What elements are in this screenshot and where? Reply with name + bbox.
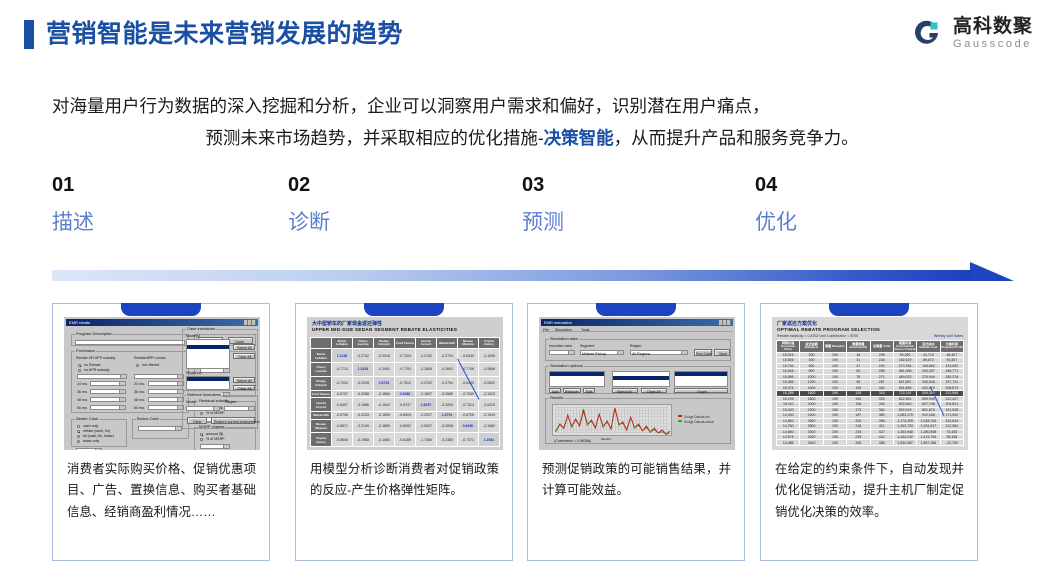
table-cell: -0.6340 [458,349,479,363]
row-header: Dodge Intrepid [311,376,332,390]
table-cell: 14,485 [777,440,800,446]
row-header: Honda Accord [311,398,332,412]
regions-clear-all-button[interactable]: Clear All [233,385,255,390]
label-segment: Segment [580,344,594,348]
optimal-rebate-shot: 厂家返还方案优化 OPTIMAL REBATE PROGRAM SELECTIO… [772,317,968,450]
menubar[interactable]: File Simulation Tools [541,327,733,332]
column-header: Buick LeSabre [332,338,353,349]
table-cell: -2.2037 [416,411,437,419]
step-number: 02 [288,175,508,195]
radio-all-cash-fin-lease[interactable] [77,435,80,438]
table-row: Nissan Maxima-0.6571-0.2149-0.1869-0.605… [311,419,500,433]
group-title: Simulation data [549,336,579,341]
card-screenshot-program-description: EMR rebate Program Description Purchases… [64,317,260,450]
regions-select-all-button[interactable]: Select All [233,377,255,383]
clear-all-label: Clear All [238,387,251,391]
select-all-label: Select All [237,379,252,383]
radio-cash-only[interactable] [77,425,80,428]
chart-series-svg [553,405,673,437]
models-selected-row [613,376,669,380]
optimal-rebate-table: 转移价格 Customer Price返还金额 Rebate $销量 Basel… [776,340,964,446]
table-cell: 458 [870,440,893,446]
column-header: 增量利润 Incremental Gross Contrib [893,341,916,353]
row-header: Nissan Maxima [311,419,332,433]
group-bonus-cash: Bonus Cash [132,419,189,439]
column-header: Chevy Lumina [353,338,374,349]
legend-swatch-actual [678,420,682,422]
label-models: Model(s) [186,334,200,338]
column-header: 方案利润 Program Profit [940,341,963,353]
step-04: 04 优化 [755,175,975,233]
card-screenshot-simulation: EMR simulation File Simulation Tools Sim… [539,317,735,450]
table-cell: -0.2794 [437,349,458,363]
table-cell: -22,789 [940,440,963,446]
program-description-input[interactable] [75,340,185,345]
card-caption: 消费者实际购买价格、促销优惠项目、广告、置换信息、购买者基础信息、经销商盈利情况… [67,459,256,523]
incentive-case-combo[interactable] [549,350,575,355]
chart-xlabel: Months [601,437,611,441]
table-cell: -2.1697 [416,390,437,398]
logo-cn-text: 高科数聚 [953,17,1033,36]
table-cell: -0.2742 [353,349,374,363]
table-row: 14,48534001902654581,534,4871,557,286-22… [777,440,964,446]
table-cell: -2.1096 [479,349,500,363]
label-24mo-right: 24 mo. [134,382,145,386]
table-cell: -0.1642 [374,398,395,412]
clear-label: Clear [193,420,202,424]
group-case-incentives: Case incentives Model(s) Select All Clea… [182,329,258,391]
table-cell: -2.1982 [479,419,500,433]
process-arrow-bar [52,270,976,281]
intro-paragraph: 对海量用户行为数据的深入挖掘和分析，企业可以洞察用户需求和偏好，识别潜在用户痛点… [52,90,1012,155]
card-caption: 在给定的约束条件下，自动发现并优化促销活动，提升主机厂制定促销优化决策的效率。 [775,459,964,523]
edit-button[interactable]: Edit [583,388,595,393]
table-cell: -0.6706 [458,411,479,419]
simulation-titlebar: EMR simulation [541,319,733,326]
row-header: Mazda 626 [311,411,332,419]
combo-60mo-right[interactable] [148,405,184,410]
label-48mo-right: 48 mo. [134,398,145,402]
combo-24mo-right[interactable] [148,381,184,386]
table-cell: 1.6791 [437,411,458,419]
row-header: Toyota Camry [311,433,332,447]
row-header: Chevy Lumina [311,363,332,377]
segment-value: Midsize Pickup [582,352,606,356]
table-cell: -0.1660 [374,433,395,447]
process-arrow-head [970,262,1014,281]
logo-en-text: Gausscode [953,39,1033,50]
label-region: Region [225,400,236,404]
cases-selected-row [550,372,604,376]
column-header: Honda Accord [416,338,437,349]
group-title: Dealer Cash [75,416,99,421]
column-header: 返还成本 Rebate Cost [917,341,940,353]
table-right-note: Weekly Unit Sales [934,334,963,338]
region-value: All Regions [632,352,650,356]
card-caption: 预测促销政策的可能销售结果，并计算可能效益。 [542,459,731,502]
table-cell: 1.2561 [479,433,500,447]
step-label: 诊断 [288,212,508,233]
table-cell: -0.7204 [395,349,416,363]
table-cell: -0.7314 [458,398,479,412]
card-tab [596,303,676,316]
group-title: Results [549,395,564,400]
paragraph-line-1: 对海量用户行为数据的深入挖掘和分析，企业可以洞察用户需求和偏好，识别潜在用户痛点… [52,90,1012,122]
combo-48mo-right[interactable] [148,397,184,402]
label-60mo-right: 60 mo. [134,406,145,410]
restore-label: Restore current environment [214,420,260,424]
label-36mo-left: 36 mo. [77,390,88,394]
table-cell: -0.2028 [353,376,374,390]
gausscode-logo-icon [910,16,944,50]
paragraph-line-2: 预测未来市场趋势，并采取相应的优化措施-决策智能，从而提升产品和服务竞争力。 [52,122,1012,154]
outputs-selected-row [675,372,727,376]
run-case-label: Run Case [696,352,712,356]
radio-no-apr-subsidy[interactable] [78,369,81,372]
table-cell: -2.2192 [416,349,437,363]
combo-48mo-left[interactable] [90,397,126,402]
column-header: 返还金额 Rebate $ [800,341,823,353]
outputs-listbox[interactable] [674,371,728,387]
brand-logo: 高科数聚 Gausscode [910,16,1033,50]
graph-label: Graph [697,390,707,394]
group-title: Case incentives [186,326,216,331]
menu-tools[interactable]: Tools [581,328,589,332]
table-cell: -0.1991 [374,363,395,377]
table-title-cn: 厂家返还方案优化 [777,320,817,327]
clear-button[interactable]: Clear [187,417,207,424]
save-button[interactable]: Save [714,349,730,356]
card-tab [121,303,201,316]
label-not-offered: not offered [142,363,159,367]
label-lease-only: lease only [83,439,99,443]
case-incentives-panel: Case incentives Model(s) Select All Clea… [182,329,258,449]
table-cell: -2.0602 [479,376,500,390]
table-cell: -0.1869 [374,419,395,433]
column-header: 销量 Baseline [823,341,846,353]
restore-environment-button[interactable]: Restore current environment [211,417,255,424]
models-clear-all-button[interactable]: Clear All [233,353,255,359]
slide-root: 营销智能是未来营销发展的趋势 高科数聚 Gausscode 对海量用户行为数据的… [0,0,1051,586]
table-cell: -0.7793 [395,363,416,377]
table-cell: 0.6480 [458,419,479,433]
table-cell: -1.7406 [416,433,437,447]
table-cell: -0.2380 [437,433,458,447]
table-cell: -0.1988 [353,433,374,447]
card-screenshot-elasticity-matrix: 大中型轿车的厂家现金返还弹性 UPPER MID-SIZE SEDAN SEGM… [307,317,503,450]
table-cell: -0.5497 [332,398,353,412]
table-cell: -2.1923 [479,390,500,398]
table-cell: -0.7510 [395,376,416,390]
table-cell: -0.6571 [332,419,353,433]
logo-wordmark: 高科数聚 Gausscode [953,17,1033,50]
group-program-description: Program Description [71,334,189,346]
graph-button[interactable]: Graph [674,388,728,393]
table-cell: 3400 [800,440,823,446]
table-cell: -0.6052 [395,419,416,433]
table-cell: -0.2794 [437,376,458,390]
legend-label-est: Dodge Dakota est [684,415,710,419]
results-chart [552,404,672,436]
add-button[interactable]: Add [549,388,561,393]
table-title-en: UPPER MID-SIZE SEDAN SEGMENT REBATE ELAS… [312,327,457,332]
table-cell: 190 [823,440,846,446]
legend-label-actual: Dodge Dakota actual [684,420,714,424]
step-label: 描述 [52,212,272,233]
label-36mo-right: 36 mo. [134,390,145,394]
label-rebate-apr-combo: Rebate/APR combo [134,356,166,360]
elasticity-table-shot: 大中型轿车的厂家现金返还弹性 UPPER MID-SIZE SEDAN SEGM… [307,317,503,450]
table-cell: -0.5747 [395,398,416,412]
edit-label: Edit [586,390,592,394]
table-cell: -2.5207 [416,419,437,433]
select-all-label: Select All [617,390,632,394]
group-dealer-cash: Dealer Cash cash only rebate (cash, fin)… [71,419,127,447]
column-header: 总销量 Total [870,341,893,353]
label-all-cash-fin-lease: all (cash, fin, lease) [83,434,114,438]
label-no-apr-subsidy: no APR subsidy [84,368,109,372]
step-02: 02 诊断 [288,175,508,233]
table-cell: -2.2806 [416,363,437,377]
label-regions: Region(s) [186,371,202,375]
elasticity-matrix-table: Buick LeSabreChevy LuminaDodge IntrepidF… [310,337,500,447]
combo-36mo-right[interactable] [148,389,184,394]
purchase-combo-right[interactable] [134,374,184,379]
models-listbox[interactable] [186,339,230,369]
window-buttons[interactable] [244,320,256,325]
table-cell: 0.8752 [374,376,395,390]
models-select-all-button[interactable]: Select All [233,344,255,350]
select-all-label: Select All [237,346,252,350]
cases-listbox[interactable] [549,371,605,387]
regions-listbox[interactable] [186,376,230,390]
table-cell: 1,534,487 [893,440,916,446]
card-optimize[interactable]: 厂家返还方案优化 OPTIMAL REBATE PROGRAM SELECTIO… [760,303,978,561]
card-screenshot-optimal-rebate: 厂家返还方案优化 OPTIMAL REBATE PROGRAM SELECTIO… [772,317,968,450]
bonus-cash-combo[interactable] [138,426,182,431]
table-cell: 1.2533 [353,363,374,377]
table-cell: -0.7204 [332,376,353,390]
table-cell: 1.1148 [332,349,353,363]
clear-all-label: Clear All [238,355,251,359]
group-retrieve-incentives: Retrieve incentives Model Region Clear R… [182,395,258,429]
column-header: 增量销量 Incremental [847,341,870,353]
label-rebate-cash-fin: rebate (cash, fin) [83,429,110,433]
table-cell: -0.5640 [332,433,353,447]
group-title: Program Description [75,331,113,336]
step-number: 04 [755,175,975,195]
radio-no-rebate[interactable] [78,364,81,367]
combo-60mo-left[interactable] [90,405,126,410]
table-cell: -0.7371 [458,433,479,447]
table-cell: -0.2018 [374,349,395,363]
step-label: 优化 [755,212,975,233]
clear-all-label: Clear All [647,390,660,394]
row-header: Ford Taurus [311,390,332,398]
table-row: Mazda 626-0.6706-0.2233-0.1895-0.6904-2.… [311,411,500,419]
table-row: Chevy Lumina-0.77131.2533-0.1991-0.7793-… [311,363,500,377]
save-label: Save [719,352,727,356]
page-title: 营销智能是未来营销发展的趋势 [46,22,403,47]
column-header: Dodge Intrepid [374,338,395,349]
table-cell: -0.7713 [332,363,353,377]
table-row: Toyota Camry-0.5640-0.1988-0.1660-0.6189… [311,433,500,447]
table-title-en: OPTIMAL REBATE PROGRAM SELECTION [777,327,880,332]
table-cell: -0.2689 [437,390,458,398]
paragraph-line-2-before: 预测未来市场趋势，并采取相应的优化措施- [205,128,543,148]
card-tab [364,303,444,316]
step-number: 03 [522,175,742,195]
column-header: Ford Taurus [395,338,416,349]
combo-36mo-left[interactable] [90,389,126,394]
step-01: 01 描述 [52,175,272,233]
step-03: 03 预测 [522,175,742,233]
paragraph-highlight: 决策智能 [544,128,614,148]
table-cell: -2.0219 [479,398,500,412]
table-cell: -0.2233 [353,411,374,419]
add-label: Add [552,390,558,394]
table-cell: -2.0808 [479,363,500,377]
table-cell: -2.1943 [479,411,500,419]
menu-simulation[interactable]: Simulation [555,328,572,332]
table-subtitle: Rebate elasticity = 0.8752 Unit Contribu… [777,334,858,338]
paragraph-line-2-after: ，从而提升产品和服务竞争力。 [614,128,859,148]
radio-lease-only[interactable] [77,440,80,443]
dialog-title: EMR simulation [544,320,572,325]
table-title-cn: 大中型轿车的厂家现金返还弹性 [312,320,382,327]
dialog-titlebar: EMR rebate [66,319,258,326]
card-describe[interactable]: EMR rebate Program Description Purchases… [52,303,270,561]
card-tab [829,303,909,316]
region-combo[interactable]: All Regions [630,350,688,355]
table-cell: -0.6706 [332,411,353,419]
models-listbox[interactable] [612,371,670,387]
row-header: Buick LeSabre [311,349,332,363]
correlation-text: (Correlation = 0.98386) [554,439,591,443]
group-title: Retrieve incentives [186,392,222,397]
table-cell: -0.1860 [374,390,395,398]
combo-24mo-left[interactable] [90,381,126,386]
remove-button[interactable]: Remove [563,388,581,393]
segment-combo[interactable]: Midsize Pickup [580,350,624,355]
retrieve-model-combo[interactable] [186,406,220,411]
table-cell: -0.2692 [437,363,458,377]
step-labels: 01 描述 02 诊断 03 预测 04 优化 [0,175,1051,255]
group-simulation-data: Simulation data Incentive case Segment M… [545,339,731,361]
process-arrow [52,262,1014,292]
column-header: 转移价格 Customer Price [777,341,800,353]
label-region: Region [630,344,641,348]
column-header: Mazda 626 [437,338,458,349]
column-header: Nissan Maxima [458,338,479,349]
group-title: Purchases [75,348,96,353]
group-purchases: Purchases Rebate OR APR subsidy Rebate/A… [71,351,189,413]
label-48mo-left: 48 mo. [77,398,88,402]
step-label: 预测 [522,212,742,233]
group-simulation-options: Simulation options Add [545,366,731,394]
label-cash-only: cash only [83,424,98,428]
title-accent-bar [24,20,34,49]
simulation-window: EMR simulation File Simulation Tools Sim… [539,317,735,450]
label-60mo-left: 60 mo. [77,406,88,410]
card-predict[interactable]: EMR simulation File Simulation Tools Sim… [527,303,745,561]
group-title: Simulation options [549,363,584,368]
purchase-combo-left[interactable] [77,374,127,379]
table-cell: -0.1895 [374,411,395,419]
select-all-button[interactable]: Select All [612,388,638,393]
dialog-title: EMR rebate [69,320,90,325]
label-incentive-case: Incentive case [549,344,572,348]
slide-header: 营销智能是未来营销发展的趋势 高科数聚 Gausscode [0,0,1051,72]
clear-all-button[interactable]: Clear All [641,388,667,393]
group-title: Bonus Cash [136,416,160,421]
regions-selected-row [187,377,229,381]
card-row: EMR rebate Program Description Purchases… [0,303,1051,568]
run-case-button[interactable]: Run Case [694,349,712,356]
label-model: Model [186,400,196,404]
title-row: 营销智能是未来营销发展的趋势 [24,20,403,49]
menu-file[interactable]: File [543,328,549,332]
table-cell: 0.9480 [395,390,416,398]
table-cell: -0.1986 [353,398,374,412]
retrieve-region-combo[interactable] [224,406,255,411]
table-row: Honda Accord-0.5497-0.1986-0.1642-0.5747… [311,398,500,412]
table-cell: -0.2149 [353,419,374,433]
radio-rebate-cash-fin[interactable] [77,430,80,433]
table-cell: 1,557,286 [917,440,940,446]
simulation-body: Simulation data Incentive case Segment M… [541,334,733,448]
table-row: Ford Taurus-0.6797-0.2088-0.18600.9480-2… [311,390,500,398]
radio-not-offered[interactable] [136,364,139,367]
table-cell: -2.3702 [416,376,437,390]
step-number: 01 [52,175,272,195]
table-cell: -0.2838 [437,419,458,433]
group-results: Results Months Dodge Dakota est Dodge Da… [545,398,731,444]
legend-swatch-est [678,415,682,417]
table-row: Buick LeSabre1.1148-0.2742-0.2018-0.7204… [311,349,500,363]
table-cell: -0.2093 [437,398,458,412]
label-no-rebate: no Rebate [84,363,101,367]
models-selected-row [187,345,229,349]
table-cell: -0.6189 [395,433,416,447]
dealer-cash-combo[interactable] [76,448,102,450]
table-cell: -0.2088 [353,390,374,398]
window-buttons[interactable] [719,320,731,325]
remove-label: Remove [565,390,578,394]
column-header: Toyota Camry [479,338,500,349]
table-cell: 1.8257 [416,398,437,412]
card-caption: 用模型分析诊断消费者对促销政策的反应-产生价格弹性矩阵。 [310,459,499,502]
label-rebate-apr-subsidy: Rebate OR APR subsidy [76,356,115,360]
table-cell: 265 [847,440,870,446]
label-24mo-left: 24 mo. [77,382,88,386]
table-cell: -0.6797 [332,390,353,398]
table-cell: -0.6904 [395,411,416,419]
card-diagnose[interactable]: 大中型轿车的厂家现金返还弹性 UPPER MID-SIZE SEDAN SEGM… [295,303,513,561]
